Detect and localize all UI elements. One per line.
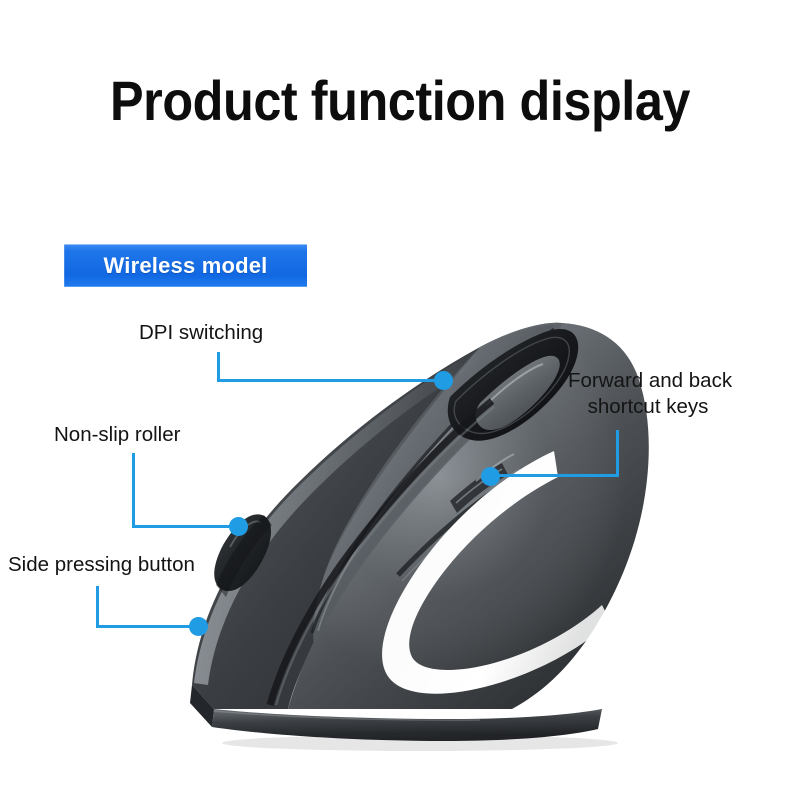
leader-line-dpi-switching-vertical xyxy=(217,352,220,381)
callout-label-non-slip-roller: Non-slip roller xyxy=(54,422,180,448)
wireless-model-badge-label: Wireless model xyxy=(104,253,268,279)
wireless-model-badge: Wireless model xyxy=(64,244,307,287)
callout-line-2: shortcut keys xyxy=(568,394,728,420)
leader-line-non-slip-roller-vertical xyxy=(132,453,135,527)
page-title: Product function display xyxy=(40,68,760,133)
callout-label-side-pressing-button: Side pressing button xyxy=(8,552,195,578)
callout-line-1: Forward and back xyxy=(568,368,728,394)
leader-line-dpi-switching-horizontal xyxy=(217,379,444,382)
leader-line-shortcut-keys-vertical xyxy=(616,430,619,476)
leader-line-side-pressing-button-horizontal xyxy=(96,625,202,628)
callout-label-forward-back-shortcut-keys: Forward and back shortcut keys xyxy=(568,368,728,420)
leader-line-non-slip-roller-horizontal xyxy=(132,525,242,528)
leader-dot-non-slip-roller xyxy=(229,517,248,536)
leader-line-shortcut-keys-horizontal xyxy=(494,474,619,477)
product-image-vertical-mouse xyxy=(150,285,670,755)
leader-dot-side-pressing-button xyxy=(189,617,208,636)
product-infographic: Product function display Wireless model xyxy=(0,0,800,800)
leader-line-side-pressing-button-vertical xyxy=(96,586,99,628)
callout-label-dpi-switching: DPI switching xyxy=(139,320,263,346)
leader-dot-dpi-switching xyxy=(434,371,453,390)
leader-dot-shortcut-keys xyxy=(481,467,500,486)
